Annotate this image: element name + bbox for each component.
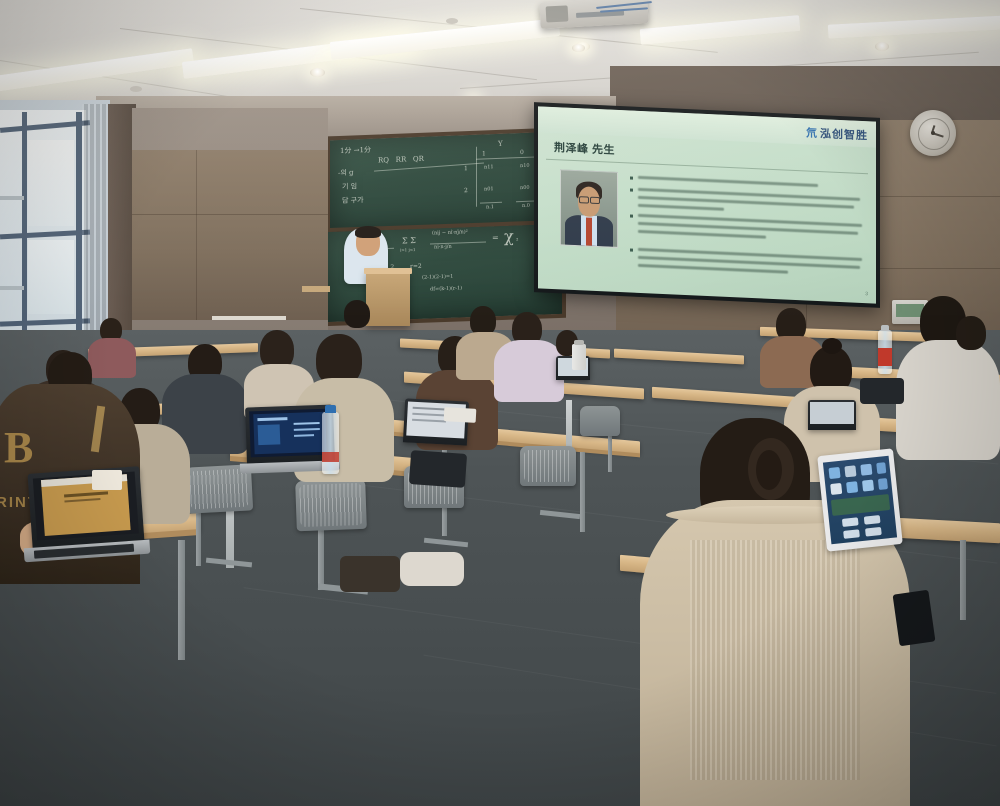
window-pane	[28, 240, 74, 314]
water-bottle-red-label[interactable]	[878, 330, 892, 374]
desk-leg	[580, 452, 585, 532]
chalk-table-cell: n11	[484, 164, 494, 170]
chalk-note: 1分 →1分	[340, 145, 371, 156]
panel-seam	[196, 150, 197, 320]
shoe	[400, 552, 464, 586]
bottle-cap	[881, 325, 889, 331]
chalk-formula: ni·n·j/n	[434, 244, 452, 251]
chalk-table-header: Y	[498, 140, 503, 148]
water-bottle-clear[interactable]	[322, 412, 339, 474]
chalk-table-cell: 1	[464, 165, 468, 172]
slide-chart	[258, 424, 281, 445]
chalk-note: -의 g	[338, 167, 354, 178]
backpack	[860, 378, 904, 404]
chalk-table-cell: n.1	[486, 204, 494, 210]
left-wall-panel	[132, 150, 328, 320]
student-hair-bun	[822, 338, 842, 354]
logo-mark-icon: 氘	[806, 124, 817, 140]
tablet-screen	[823, 456, 897, 544]
jacket-logo-b: B	[4, 422, 33, 473]
chalk-formula: ²	[516, 237, 518, 244]
projection-screen: 氘 泓创智胜 荆泽峰 先生	[534, 102, 880, 308]
laptop-screen	[33, 472, 139, 541]
chalk-note: (2-1)(2-1)=1	[422, 274, 453, 281]
sweater-rib-texture	[690, 540, 860, 780]
chair[interactable]	[295, 479, 367, 531]
speaker-headshot	[560, 169, 618, 248]
jacket-stripe	[91, 406, 105, 453]
chalk-note: RQ RR QR	[378, 155, 424, 165]
bottle-cap	[325, 405, 336, 413]
logo-text: 泓创智胜	[820, 125, 868, 143]
radiator-top	[212, 316, 286, 320]
student-head	[344, 300, 370, 328]
bottle-label	[878, 348, 892, 366]
student-body	[494, 340, 564, 402]
downlight	[572, 44, 585, 52]
chalk-table-cell: n01	[484, 186, 494, 192]
downlight	[875, 42, 889, 51]
window-mullion	[22, 112, 27, 350]
chalk-note: df=(k-1)(r-1)	[430, 285, 462, 292]
chalk-formula: χ	[504, 227, 514, 246]
notebook	[444, 407, 477, 423]
chair[interactable]	[580, 406, 620, 436]
smoke-detector-icon	[130, 86, 142, 92]
desk-leg	[960, 540, 966, 620]
text-line	[412, 419, 446, 423]
desk-leg	[178, 540, 185, 660]
chalk-table-cell: n.0	[522, 203, 530, 209]
panel-seam	[132, 214, 328, 215]
tumbler-lid	[574, 340, 584, 345]
laptop-front-left[interactable]	[27, 466, 144, 550]
laptop-screen	[810, 402, 854, 424]
chair[interactable]	[520, 446, 576, 486]
window-railing	[0, 286, 24, 290]
podium-top	[364, 268, 412, 274]
wall-clock	[910, 110, 956, 156]
slide-bullets	[630, 173, 862, 290]
slide-page-number: 3	[865, 291, 868, 297]
projector-lens	[546, 5, 569, 22]
tablet[interactable]	[817, 448, 903, 551]
downlight	[310, 68, 325, 77]
chalk-formula: i=1 j=1	[400, 247, 416, 253]
phone[interactable]	[893, 590, 936, 647]
chalk-formula: Σ Σ	[402, 236, 416, 245]
student-head	[956, 316, 986, 350]
hair-clip	[756, 450, 782, 490]
slide-logo: 氘 泓创智胜	[806, 124, 868, 143]
window-railing	[0, 196, 24, 200]
chalk-note: 담 구가	[342, 195, 364, 206]
chalk-table-rule	[476, 147, 477, 207]
chalk-table-cell: n00	[520, 185, 530, 191]
paper	[92, 470, 122, 490]
student-body	[88, 338, 136, 378]
chalk-table-header: 0	[520, 149, 524, 156]
shoe	[340, 556, 400, 592]
smoke-detector-icon	[446, 18, 458, 24]
clock-center	[931, 131, 935, 135]
chalk-formula: =	[492, 233, 499, 242]
chalk-table-cell: 2	[464, 187, 468, 194]
window-pane	[28, 140, 74, 226]
laptop-screen	[249, 409, 331, 458]
student-body	[896, 340, 1000, 460]
backpack	[409, 450, 467, 488]
chalk-table-header: 1	[482, 150, 486, 157]
podium	[366, 270, 410, 326]
laptop-rear-far[interactable]	[808, 400, 856, 430]
slide: 氘 泓创智胜 荆泽峰 先生	[538, 106, 876, 303]
thermos-tumbler[interactable]	[572, 344, 586, 370]
presenter-hair	[355, 226, 381, 238]
chalk-formula: (nij − nî·nĵ/n)²	[432, 229, 468, 236]
bottle-label	[322, 452, 339, 462]
slide-title: 荆泽峰 先生	[554, 139, 615, 158]
chalk-table-cell: n10	[520, 163, 530, 169]
front-desk	[302, 286, 330, 292]
classroom-photograph: 1分 →1分 -의 g 기 임 담 구가 RQ RR QR Y 1 0 1 n1…	[0, 0, 1000, 806]
chalk-note: 기 임	[342, 181, 357, 192]
